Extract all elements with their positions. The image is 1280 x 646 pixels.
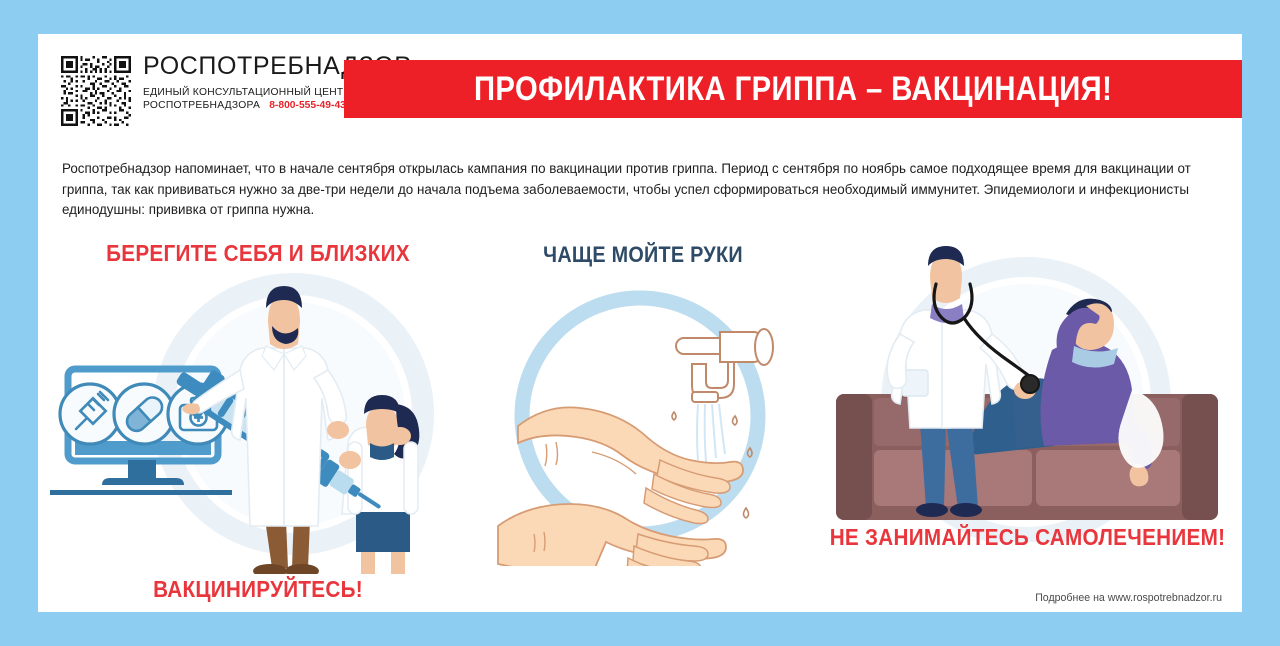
panel-handwashing: ЧАЩЕ МОЙТЕ РУКИ [478, 224, 808, 612]
panels-row: БЕРЕГИТЕ СЕБЯ И БЛИЗКИХ [38, 224, 1242, 612]
panel3-caption: НЕ ЗАНИМАЙТЕСЬ САМОЛЕЧЕНИЕМ! [830, 524, 1221, 551]
panel1-caption-top: БЕРЕГИТЕ СЕБЯ И БЛИЗКИХ [60, 240, 456, 267]
handwashing-illustration [488, 276, 798, 566]
panel-vaccination: БЕРЕГИТЕ СЕБЯ И БЛИЗКИХ [38, 224, 478, 612]
intro-paragraph: Роспотребнадзор напоминает, что в начале… [62, 159, 1222, 221]
panel1-caption-bottom: ВАКЦИНИРУЙТЕСЬ! [60, 576, 456, 603]
qr-code-icon [61, 56, 131, 126]
panel2-caption: ЧАЩЕ МОЙТЕ РУКИ [495, 242, 792, 268]
doctors-with-syringe-illustration [48, 264, 468, 574]
panel-no-selfmedication: НЕ ЗАНИМАЙТЕСЬ САМОЛЕЧЕНИЕМ! [808, 224, 1242, 612]
consult-center-org: РОСПОТРЕБНАДЗОРА [143, 100, 260, 111]
banner-title: ПРОФИЛАКТИКА ГРИППА – ВАКЦИНАЦИЯ! [474, 70, 1112, 109]
poster-header: РОСПОТРЕБНАДЗОР ЕДИНЫЙ КОНСУЛЬТАЦИОННЫЙ … [38, 34, 1242, 140]
doctor-examining-patient-illustration [816, 242, 1236, 542]
red-title-banner: ПРОФИЛАКТИКА ГРИППА – ВАКЦИНАЦИЯ! [344, 60, 1242, 118]
footer-note[interactable]: Подробнее на www.rospotrebnadzor.ru [1035, 592, 1222, 604]
hotline-phone[interactable]: 8-800-555-49-43 [269, 100, 346, 111]
poster-card: РОСПОТРЕБНАДЗОР ЕДИНЫЙ КОНСУЛЬТАЦИОННЫЙ … [38, 34, 1242, 612]
